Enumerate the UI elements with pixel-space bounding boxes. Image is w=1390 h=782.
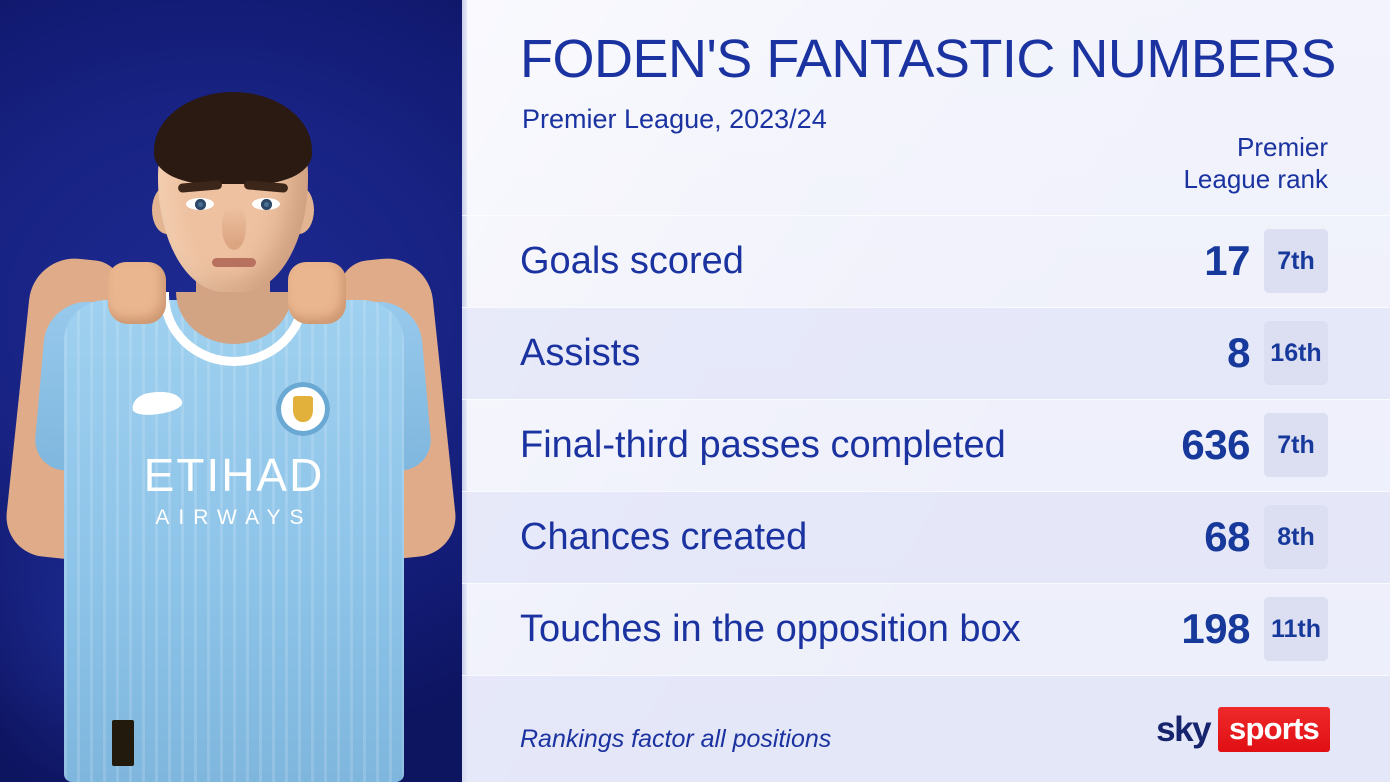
- footer-divider: [462, 675, 1390, 676]
- rank-column-header: Premier League rank: [1068, 132, 1328, 195]
- table-row: Goals scored 17 7th: [462, 215, 1390, 307]
- sports-wordmark: sports: [1218, 707, 1330, 752]
- player-nose: [222, 206, 246, 250]
- player-right-fist: [288, 262, 346, 324]
- sky-sports-stats-graphic: ETIHAD AIRWAYS FODEN'S FANTASTIC NUMBERS…: [0, 0, 1390, 782]
- player-left-eye: [186, 198, 214, 210]
- stat-label: Final-third passes completed: [520, 424, 1094, 467]
- club-crest-icon: [276, 382, 330, 436]
- footer-bar: Rankings factor all positions sky sports: [462, 675, 1390, 782]
- row-divider: [462, 215, 1390, 216]
- stats-rows: Goals scored 17 7th Assists 8 16th Final…: [462, 215, 1390, 675]
- shirt-hem-tag: [112, 720, 134, 766]
- sky-wordmark: sky: [1156, 712, 1218, 747]
- stat-value: 17: [1094, 237, 1264, 285]
- row-divider: [462, 399, 1390, 400]
- sky-sports-logo: sky sports: [1156, 708, 1330, 750]
- table-row: Touches in the opposition box 198 11th: [462, 583, 1390, 675]
- page-subtitle: Premier League, 2023/24: [522, 104, 827, 135]
- player-mouth: [212, 258, 256, 267]
- page-title: FODEN'S FANTASTIC NUMBERS: [520, 28, 1336, 90]
- stat-rank-badge: 16th: [1264, 321, 1328, 385]
- sponsor-secondary-text: AIRWAYS: [64, 506, 404, 530]
- rank-column-header-line2: League rank: [1068, 164, 1328, 196]
- stat-label: Touches in the opposition box: [520, 608, 1094, 651]
- player-left-fist: [108, 262, 166, 324]
- stat-label: Assists: [520, 332, 1094, 375]
- row-divider: [462, 583, 1390, 584]
- player-right-eye: [252, 198, 280, 210]
- stats-panel: FODEN'S FANTASTIC NUMBERS Premier League…: [462, 0, 1390, 782]
- footnote-text: Rankings factor all positions: [520, 725, 831, 754]
- stat-rank-badge: 11th: [1264, 597, 1328, 661]
- stat-label: Goals scored: [520, 240, 1094, 283]
- player-photo-panel: ETIHAD AIRWAYS: [0, 0, 462, 782]
- row-divider: [462, 307, 1390, 308]
- row-divider: [462, 491, 1390, 492]
- table-row: Final-third passes completed 636 7th: [462, 399, 1390, 491]
- stat-rank-badge: 7th: [1264, 229, 1328, 293]
- shirt-sponsor: ETIHAD AIRWAYS: [64, 452, 404, 530]
- stat-value: 198: [1094, 605, 1264, 653]
- table-row: Chances created 68 8th: [462, 491, 1390, 583]
- stat-value: 8: [1094, 329, 1264, 377]
- table-row: Assists 8 16th: [462, 307, 1390, 399]
- player-hair: [154, 92, 312, 184]
- stat-rank-badge: 8th: [1264, 505, 1328, 569]
- rank-column-header-line1: Premier: [1068, 132, 1328, 164]
- stat-value: 68: [1094, 513, 1264, 561]
- sponsor-primary-text: ETIHAD: [64, 452, 404, 498]
- stat-rank-badge: 7th: [1264, 413, 1328, 477]
- player-shirt: [64, 300, 404, 782]
- stat-value: 636: [1094, 421, 1264, 469]
- player-figure: ETIHAD AIRWAYS: [0, 0, 462, 782]
- stat-label: Chances created: [520, 516, 1094, 559]
